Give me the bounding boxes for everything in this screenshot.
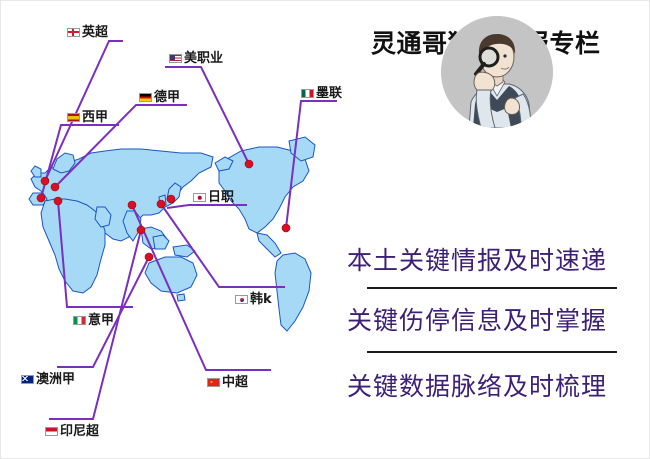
world-map-panel: 英超 美职业 德甲 墨联 西甲 日职 韩k 意甲 — [1, 1, 341, 459]
germany-flag-icon — [139, 93, 152, 102]
marker-spain — [37, 194, 45, 202]
central-america-landmass — [257, 233, 281, 257]
league-label-australia[interactable]: 澳洲甲 — [21, 373, 75, 386]
connector-japan — [167, 205, 247, 208]
usa-flag-icon — [169, 54, 182, 63]
britain-landmass — [31, 166, 41, 177]
marker-italy — [54, 197, 62, 205]
tasmania-landmass — [177, 294, 185, 301]
league-label-usa[interactable]: 美职业 — [169, 52, 223, 65]
league-label-spain[interactable]: 西甲 — [67, 111, 108, 124]
korea-flag-icon — [235, 295, 248, 304]
connector-mexico — [286, 101, 337, 228]
marker-usa — [245, 160, 253, 168]
marker-japan — [167, 195, 175, 203]
slogan-line-3: 关键数据脉络及时梳理 — [347, 367, 647, 403]
slogan-divider-2 — [367, 351, 617, 353]
italy-flag-icon — [73, 316, 86, 325]
south-america-landmass — [275, 253, 311, 331]
marker-england — [41, 177, 49, 185]
china-flag-icon — [207, 378, 220, 387]
league-name: 德甲 — [154, 91, 180, 104]
indonesia-flag-icon — [45, 427, 58, 436]
league-name: 印尼超 — [60, 425, 99, 438]
slogan-line-2: 关键伤停信息及时掌握 — [347, 301, 647, 337]
marker-indonesia — [137, 226, 145, 234]
borneo-landmass — [153, 235, 169, 249]
connector-usa — [165, 67, 249, 164]
league-name: 英超 — [82, 26, 108, 39]
league-name: 美职业 — [184, 52, 223, 65]
avatar-illustration — [441, 16, 553, 128]
avatar-other-hand — [505, 98, 520, 114]
league-label-italy[interactable]: 意甲 — [73, 314, 114, 327]
poster-canvas: 英超 美职业 德甲 墨联 西甲 日职 韩k 意甲 — [0, 0, 650, 459]
england-flag-icon — [67, 28, 80, 37]
league-label-china[interactable]: 中超 — [207, 376, 248, 389]
league-label-japan[interactable]: 日职 — [193, 191, 234, 204]
marker-mexico — [282, 224, 290, 232]
league-name: 西甲 — [82, 111, 108, 124]
league-label-korea[interactable]: 韩k — [235, 293, 272, 306]
league-name: 韩k — [250, 293, 272, 306]
slogan-line-1: 本土关键情报及时速递 — [347, 241, 647, 277]
marker-korea — [157, 200, 165, 208]
spain-flag-icon — [67, 113, 80, 122]
slogan-divider-1 — [367, 287, 617, 289]
africa-landmass — [41, 199, 105, 293]
league-label-germany[interactable]: 德甲 — [139, 91, 180, 104]
league-name: 日职 — [208, 191, 234, 204]
map-landmasses — [29, 137, 315, 331]
league-label-indonesia[interactable]: 印尼超 — [45, 425, 99, 438]
league-name: 澳洲甲 — [36, 373, 75, 386]
league-label-england[interactable]: 英超 — [67, 26, 108, 39]
world-map-svg — [1, 1, 341, 459]
avatar — [441, 16, 553, 128]
japan-flag-icon — [193, 193, 206, 202]
league-name: 意甲 — [88, 314, 114, 327]
league-label-mexico[interactable]: 墨联 — [301, 87, 342, 100]
marker-australia — [145, 253, 153, 261]
avatar-eye — [503, 54, 506, 57]
mexico-flag-icon — [301, 89, 314, 98]
marker-germany — [51, 183, 59, 191]
australia-landmass — [145, 257, 197, 293]
australia-flag-icon — [21, 375, 34, 384]
promo-panel: 灵通哥独家情报专栏 — [337, 1, 650, 459]
marker-china — [128, 201, 136, 209]
league-name: 中超 — [222, 376, 248, 389]
